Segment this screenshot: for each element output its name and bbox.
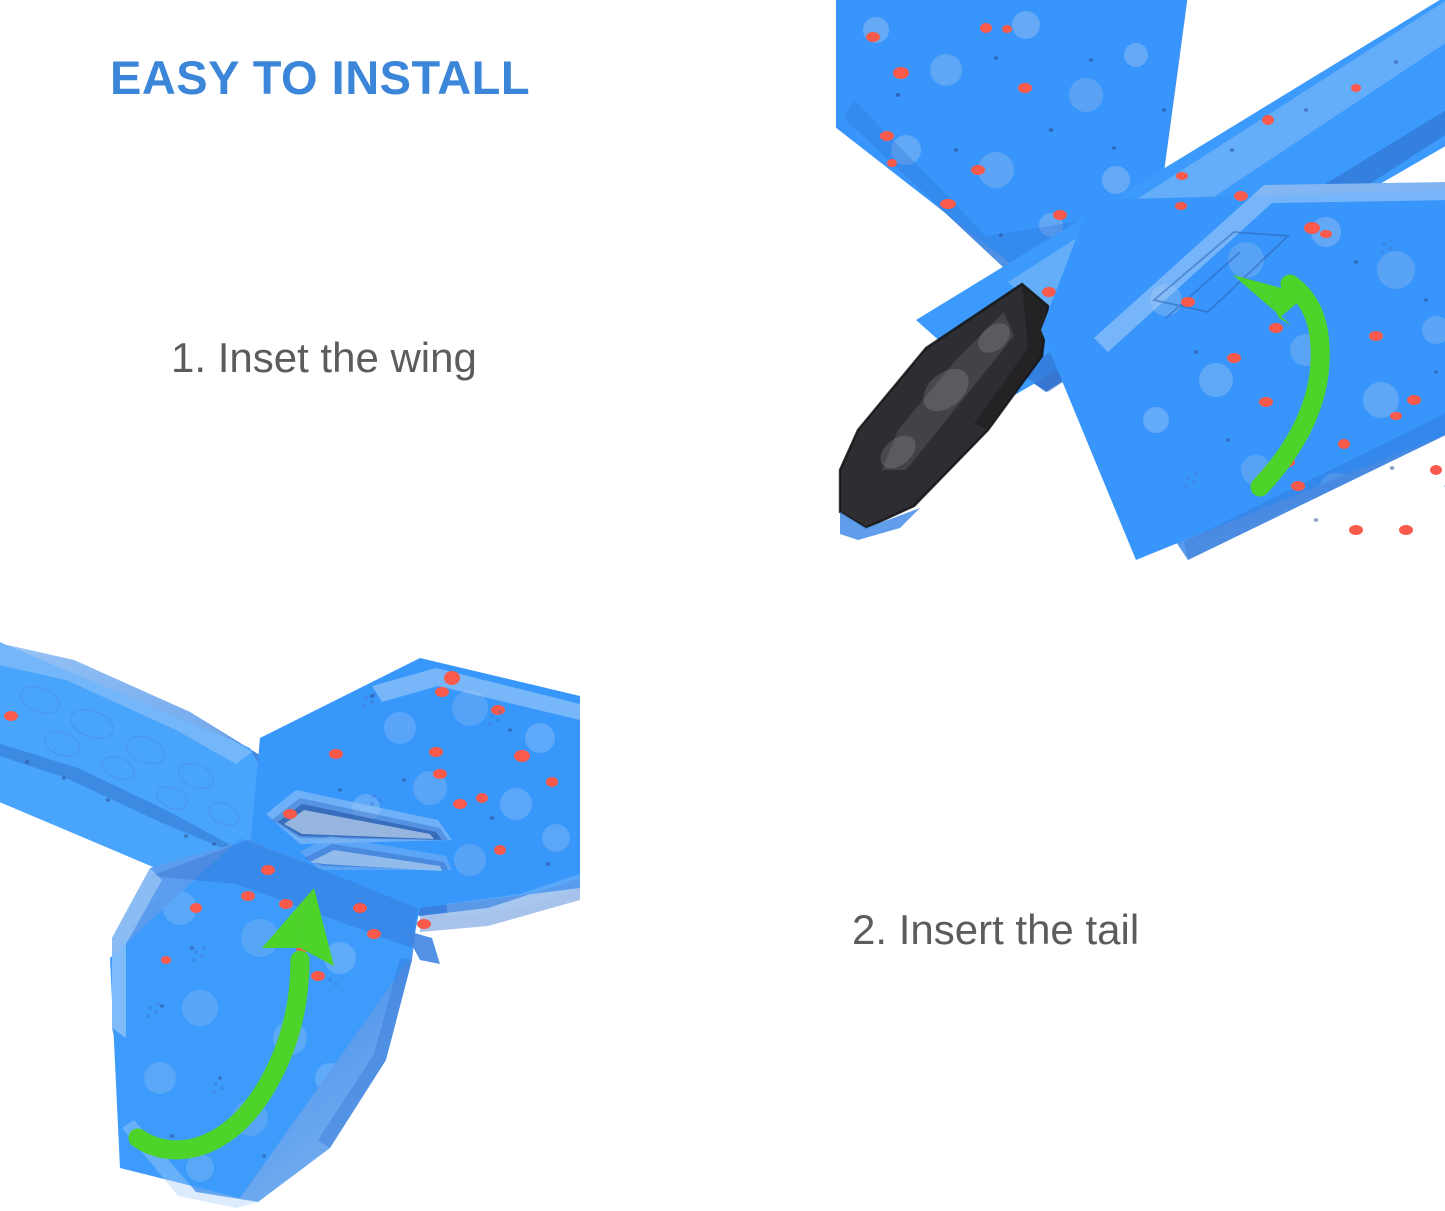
page-title: EASY TO INSTALL bbox=[110, 50, 530, 105]
wing-assembly-photo bbox=[836, 0, 1445, 612]
step-1-caption: 1. Inset the wing bbox=[171, 334, 477, 382]
boom-speckles bbox=[4, 711, 18, 721]
instruction-sheet: EASY TO INSTALL 1. Inset the wing 2. Ins… bbox=[0, 0, 1445, 1211]
tail-assembly-photo bbox=[0, 608, 625, 1211]
tail-assembly-illustration bbox=[0, 608, 625, 1211]
wing-assembly-illustration bbox=[836, 0, 1445, 612]
step-2-caption: 2. Insert the tail bbox=[852, 906, 1139, 954]
